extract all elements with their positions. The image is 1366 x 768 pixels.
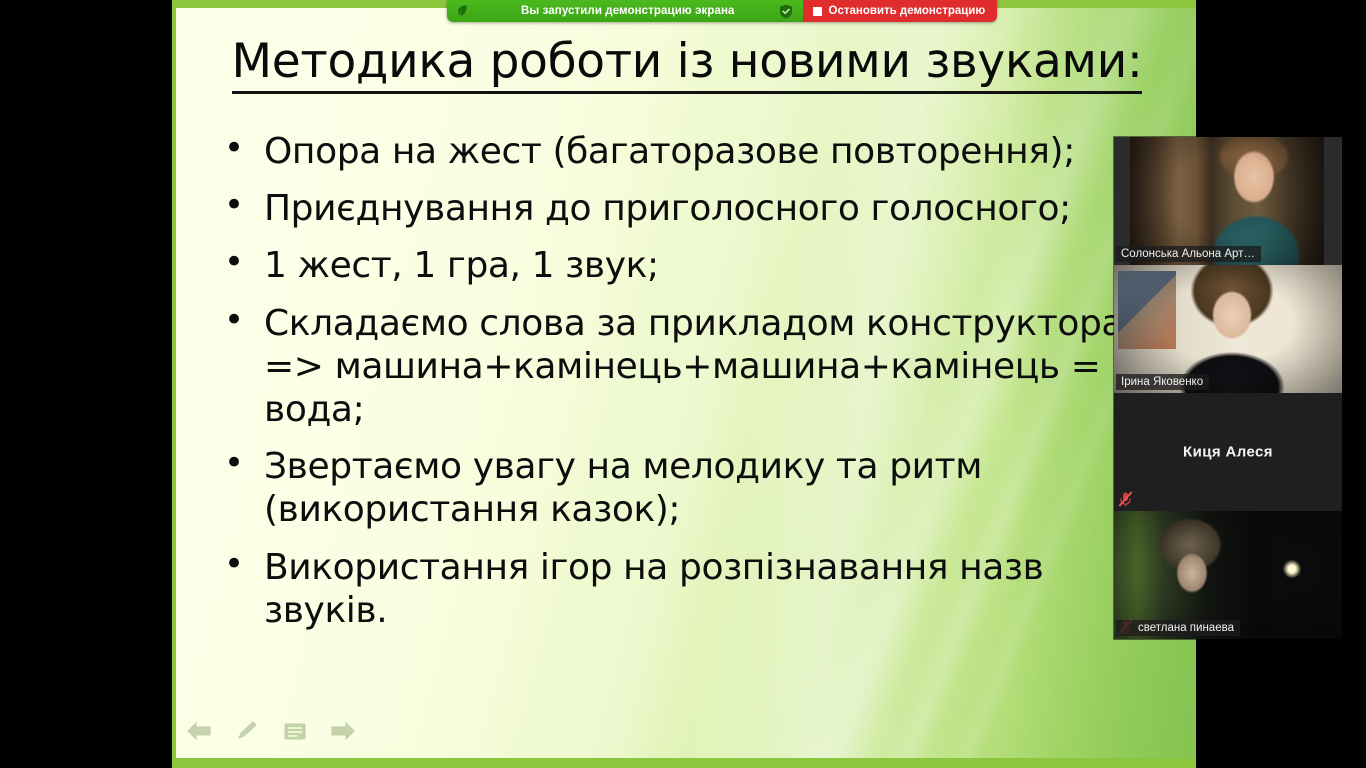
bullet-line: Використання ігор на розпізнавання назв — [264, 546, 1114, 589]
bullet-item-1: Опора на жест (багаторазове повторення); — [204, 130, 1114, 173]
share-status-text: Вы запустили демонстрацию экрана — [479, 5, 769, 17]
bullet-item-2: Приєднування до приголосного голосного; — [204, 187, 1114, 230]
slideshow-nav-toolbar[interactable] — [184, 718, 358, 744]
bullet-line: Опора на жест (багаторазове повторення); — [264, 130, 1114, 173]
bullet-line: => машина+камінець+машина+камінець = — [264, 345, 1114, 388]
participant-name: Солонська Альона Арт… — [1116, 246, 1261, 262]
bullet-item-4: Складаємо слова за прикладом конструктор… — [204, 302, 1114, 432]
slide-canvas: Методика роботи із новими звуками: Опора… — [176, 8, 1196, 758]
slide-content: Методика роботи із новими звуками: Опора… — [176, 8, 1196, 758]
share-status-area: Вы запустили демонстрацию экрана — [447, 0, 803, 22]
bullet-line: Приєднування до приголосного голосного; — [264, 187, 1114, 230]
bullet-item-3: 1 жест, 1 гра, 1 звук; — [204, 244, 1114, 287]
bullet-line: звуків. — [264, 589, 1114, 632]
bullet-line: Звертаємо увагу на мелодику та ритм — [264, 445, 1114, 488]
slide-title: Методика роботи із новими звуками: — [212, 36, 1162, 89]
previous-slide-button[interactable] — [184, 718, 214, 744]
participant-tile[interactable]: светлана пинаева — [1114, 511, 1342, 639]
stop-share-label: Остановить демонстрацию — [829, 5, 986, 17]
stop-square-icon — [813, 7, 822, 16]
slide-bullet-list: Опора на жест (багаторазове повторення);… — [204, 130, 1114, 646]
bullet-item-6: Використання ігор на розпізнавання назв … — [204, 546, 1114, 632]
participant-name: Ірина Яковенко — [1116, 374, 1209, 390]
participant-tile[interactable]: Ірина Яковенко — [1114, 265, 1342, 393]
slide-title-text: Методика роботи із новими звуками: — [232, 34, 1143, 94]
participant-name: Киця Алеся — [1114, 444, 1342, 461]
slide-menu-button[interactable] — [280, 718, 310, 744]
bullet-line: Складаємо слова за прикладом конструктор… — [264, 302, 1114, 345]
screen-share-banner: Вы запустили демонстрацию экрана Останов… — [447, 0, 997, 22]
participant-name: светлана пинаева — [1116, 620, 1240, 636]
leaf-icon — [455, 4, 469, 18]
arrow-left-icon — [185, 720, 213, 742]
powerpoint-slideshow-stage: Методика роботи із новими звуками: Опора… — [172, 0, 1196, 768]
participants-video-strip[interactable]: Солонська Альона Арт… Ірина Яковенко Киц… — [1114, 137, 1342, 639]
participant-tile[interactable]: Киця Алеся — [1114, 393, 1342, 511]
next-slide-button[interactable] — [328, 718, 358, 744]
menu-icon — [282, 720, 308, 742]
stop-share-button[interactable]: Остановить демонстрацию — [803, 0, 998, 22]
bullet-line: (використання казок); — [264, 488, 1114, 531]
slide-border-bottom — [172, 758, 1196, 768]
bullet-line: 1 жест, 1 гра, 1 звук; — [264, 244, 1114, 287]
mic-off-icon — [1118, 491, 1133, 507]
arrow-right-icon — [329, 720, 357, 742]
participant-tile[interactable]: Солонська Альона Арт… — [1114, 137, 1342, 265]
pointer-options-button[interactable] — [232, 718, 262, 744]
shield-check-icon — [779, 4, 793, 19]
bullet-line: вода; — [264, 388, 1114, 431]
pen-icon — [235, 720, 259, 742]
screen-share-view: Методика роботи із новими звуками: Опора… — [0, 0, 1366, 768]
bullet-item-5: Звертаємо увагу на мелодику та ритм (вик… — [204, 445, 1114, 531]
